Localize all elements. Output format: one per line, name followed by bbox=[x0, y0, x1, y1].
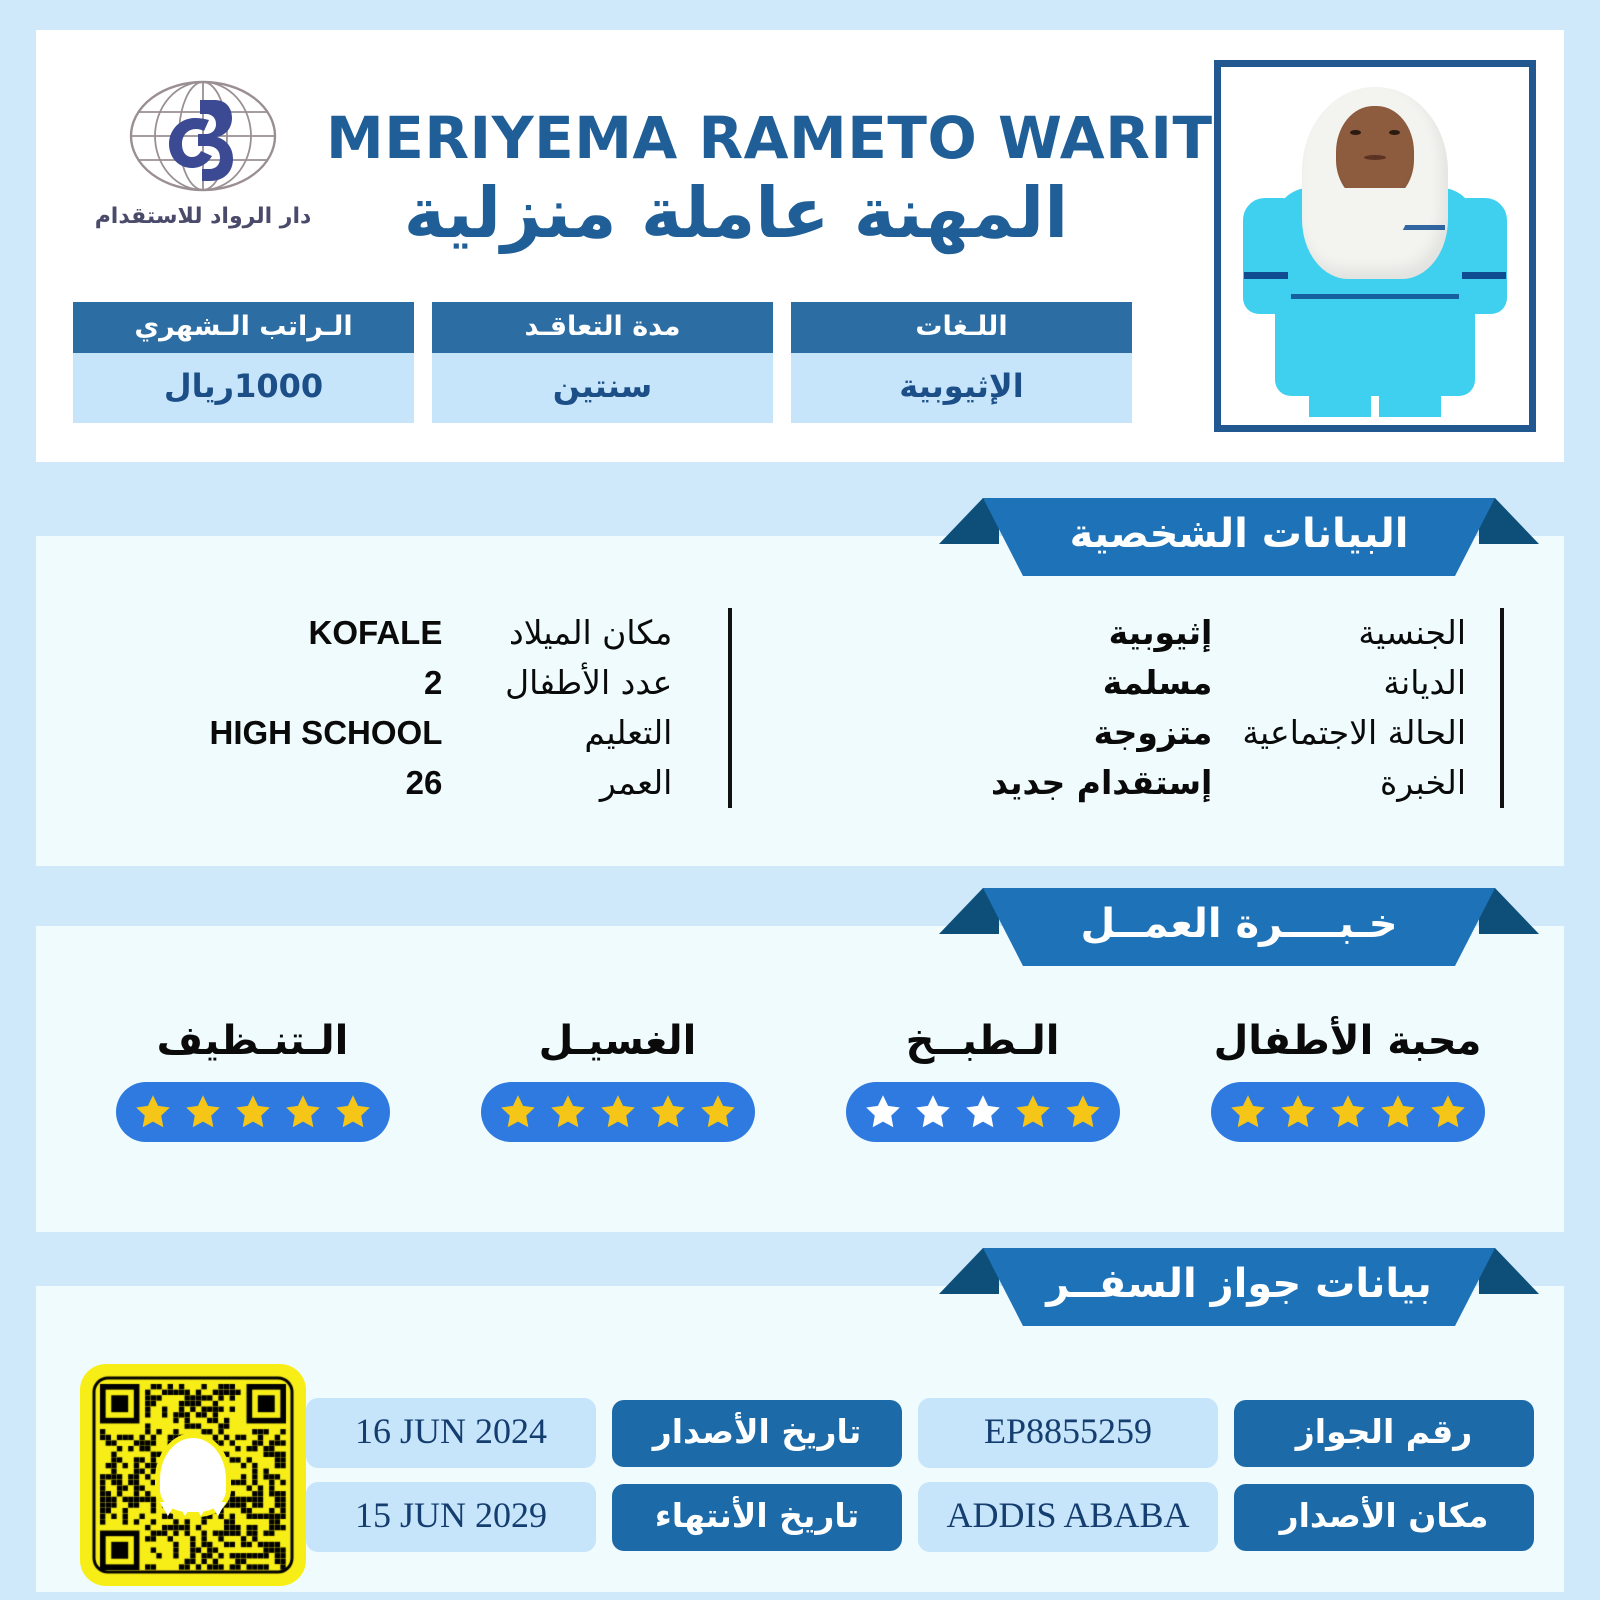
personal-label: التعليم bbox=[472, 708, 672, 758]
section-passport: بيانات جواز السفــر رقم الجواز EP8855259… bbox=[36, 1248, 1564, 1592]
section-title: البيانات الشخصية bbox=[1070, 511, 1409, 557]
skill-item: الـتنـظيف bbox=[88, 1018, 418, 1142]
section-title: بيانات جواز السفــر bbox=[1046, 1261, 1432, 1307]
star-icon bbox=[962, 1091, 1004, 1133]
star-icon bbox=[332, 1091, 374, 1133]
work-experience-banner: خـبــــرة العمــل bbox=[939, 888, 1539, 966]
info-box-label: مدة التعاقـد bbox=[432, 302, 773, 353]
passport-key: رقم الجواز bbox=[1234, 1400, 1534, 1467]
agency-logo: دار الرواد للاستقدام bbox=[88, 74, 318, 229]
info-box-contract-duration: مدة التعاقـد سنتين bbox=[432, 302, 773, 423]
passport-row: مكان الأصدار ADDIS ABABA تاريخ الأنتهاء … bbox=[306, 1482, 1534, 1552]
info-box-value: الإثيوبية bbox=[791, 353, 1132, 423]
star-icon bbox=[912, 1091, 954, 1133]
section-personal-data: البيانات الشخصية إثيوبية مسلمة متزوجة إس… bbox=[36, 498, 1564, 866]
skill-label: الـتنـظيف bbox=[88, 1018, 418, 1064]
star-icon bbox=[697, 1091, 739, 1133]
section-work-experience: خـبــــرة العمــل محبة الأطفالالـطبــخال… bbox=[36, 888, 1564, 1232]
passport-banner: بيانات جواز السفــر bbox=[939, 1248, 1539, 1326]
star-icon bbox=[182, 1091, 224, 1133]
snapchat-qr-code-icon[interactable] bbox=[80, 1364, 306, 1586]
section-title: خـبــــرة العمــل bbox=[1080, 901, 1397, 947]
info-box-label: الـراتب الـشهري bbox=[73, 302, 414, 353]
personal-label: الديانة bbox=[1242, 658, 1466, 708]
skill-item: الـطبــخ bbox=[818, 1018, 1148, 1142]
personal-value: 26 bbox=[210, 758, 443, 808]
skill-label: محبة الأطفال bbox=[1183, 1018, 1513, 1064]
personal-col-left: KOFALE 2 HIGH SCHOOL 26 مكان الميلاد عدد… bbox=[210, 608, 733, 808]
info-box-value: سنتين bbox=[432, 353, 773, 423]
star-icon bbox=[132, 1091, 174, 1133]
worker-name: MERIYEMA RAMETO WARITU bbox=[326, 108, 1146, 169]
passport-key: تاريخ الأنتهاء bbox=[612, 1484, 902, 1551]
agency-name: دار الرواد للاستقدام bbox=[88, 204, 318, 229]
star-icon bbox=[282, 1091, 324, 1133]
personal-value: KOFALE bbox=[210, 608, 443, 658]
skill-rating bbox=[846, 1082, 1120, 1142]
passport-fields: رقم الجواز EP8855259 تاريخ الأصدار 16 JU… bbox=[306, 1398, 1540, 1552]
star-icon bbox=[1377, 1091, 1419, 1133]
personal-value: مسلمة bbox=[982, 658, 1212, 708]
passport-value: 15 JUN 2029 bbox=[306, 1482, 596, 1552]
passport-row: رقم الجواز EP8855259 تاريخ الأصدار 16 JU… bbox=[306, 1398, 1534, 1468]
passport-value: 16 JUN 2024 bbox=[306, 1398, 596, 1468]
info-box-monthly-salary: الـراتب الـشهري 1000ريال bbox=[73, 302, 414, 423]
title-block: MERIYEMA RAMETO WARITU المهنة عاملة منزل… bbox=[326, 108, 1146, 252]
passport-key: تاريخ الأصدار bbox=[612, 1400, 902, 1467]
star-icon bbox=[1012, 1091, 1054, 1133]
job-title: المهنة عاملة منزلية bbox=[326, 175, 1146, 252]
worker-profile-card: دار الرواد للاستقدام MERIYEMA RAMETO WAR… bbox=[0, 0, 1600, 1600]
personal-col-right: إثيوبية مسلمة متزوجة إستقدام جديد الجنسي… bbox=[982, 608, 1504, 808]
personal-label: العمر bbox=[472, 758, 672, 808]
star-icon bbox=[597, 1091, 639, 1133]
star-icon bbox=[1327, 1091, 1369, 1133]
star-icon bbox=[232, 1091, 274, 1133]
star-icon bbox=[547, 1091, 589, 1133]
passport-value: EP8855259 bbox=[918, 1398, 1218, 1468]
passport-value: ADDIS ABABA bbox=[918, 1482, 1218, 1552]
globe-r-logo-icon bbox=[119, 74, 287, 202]
skill-label: الـطبــخ bbox=[818, 1018, 1148, 1064]
skills-list: محبة الأطفالالـطبــخالغسيـلالـتنـظيف bbox=[36, 976, 1564, 1142]
snapchat-ghost-icon bbox=[160, 1438, 226, 1512]
skill-rating bbox=[116, 1082, 390, 1142]
info-box-value: 1000ريال bbox=[73, 353, 414, 423]
passport-panel: رقم الجواز EP8855259 تاريخ الأصدار 16 JU… bbox=[36, 1286, 1564, 1592]
worker-photo-frame bbox=[1214, 60, 1536, 432]
skill-item: الغسيـل bbox=[453, 1018, 783, 1142]
star-icon bbox=[1277, 1091, 1319, 1133]
personal-value: متزوجة bbox=[982, 708, 1212, 758]
skill-rating bbox=[481, 1082, 755, 1142]
info-box-label: اللـغات bbox=[791, 302, 1132, 353]
personal-label: عدد الأطفال bbox=[472, 658, 672, 708]
worker-photo bbox=[1229, 75, 1521, 417]
star-icon bbox=[647, 1091, 689, 1133]
star-icon bbox=[1062, 1091, 1104, 1133]
header-card: دار الرواد للاستقدام MERIYEMA RAMETO WAR… bbox=[36, 30, 1564, 462]
personal-label: الجنسية bbox=[1242, 608, 1466, 658]
personal-value: HIGH SCHOOL bbox=[210, 708, 443, 758]
passport-key: مكان الأصدار bbox=[1234, 1484, 1534, 1551]
star-icon bbox=[862, 1091, 904, 1133]
summary-info-boxes: اللـغات الإثيوبية مدة التعاقـد سنتين الـ… bbox=[72, 302, 1132, 423]
info-box-languages: اللـغات الإثيوبية bbox=[791, 302, 1132, 423]
personal-value: إستقدام جديد bbox=[982, 758, 1212, 808]
skill-item: محبة الأطفال bbox=[1183, 1018, 1513, 1142]
personal-label: مكان الميلاد bbox=[472, 608, 672, 658]
work-experience-panel: محبة الأطفالالـطبــخالغسيـلالـتنـظيف bbox=[36, 926, 1564, 1232]
personal-value: إثيوبية bbox=[982, 608, 1212, 658]
personal-value: 2 bbox=[210, 658, 443, 708]
star-icon bbox=[497, 1091, 539, 1133]
personal-label: الخبرة bbox=[1242, 758, 1466, 808]
skill-label: الغسيـل bbox=[453, 1018, 783, 1064]
personal-label: الحالة الاجتماعية bbox=[1242, 708, 1466, 758]
star-icon bbox=[1227, 1091, 1269, 1133]
star-icon bbox=[1427, 1091, 1469, 1133]
personal-data-banner: البيانات الشخصية bbox=[939, 498, 1539, 576]
personal-data-panel: إثيوبية مسلمة متزوجة إستقدام جديد الجنسي… bbox=[36, 536, 1564, 866]
skill-rating bbox=[1211, 1082, 1485, 1142]
